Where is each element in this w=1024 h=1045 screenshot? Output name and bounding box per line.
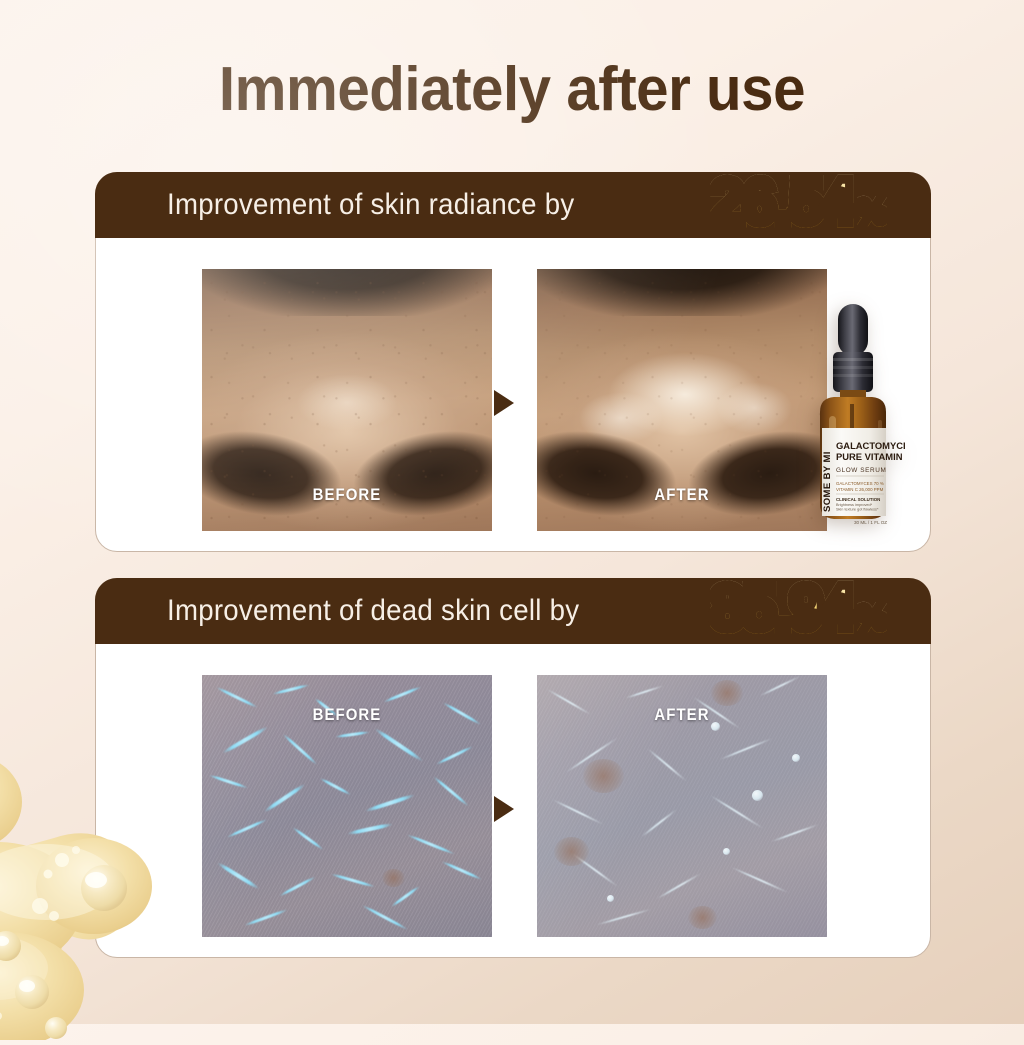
- bottle-subtitle: GLOW SERUM: [836, 467, 886, 474]
- stat-value: 85.94: [710, 577, 853, 640]
- after-label: AFTER: [554, 485, 809, 505]
- bottle-section-label: CLINICAL SOLUTION: [836, 497, 880, 502]
- before-label: BEFORE: [219, 705, 474, 725]
- stat-unit: %: [857, 195, 887, 229]
- product-bottle: SOME BY MI GALACTOMYCES PURE VITAMIN C G…: [800, 300, 905, 535]
- stat-unit: %: [857, 601, 887, 635]
- stat-badge: 85.94 %: [708, 577, 887, 640]
- gel-drop-icon: [0, 710, 216, 1040]
- card-banner: Improvement of dead skin cell by 85.94 %: [95, 578, 931, 644]
- before-label: BEFORE: [219, 485, 474, 505]
- card-banner: Improvement of skin radiance by 26.54 %: [95, 172, 931, 238]
- bottle-claim-line3: Brightness improved*: [836, 503, 873, 507]
- bottle-brand: SOME BY MI: [822, 451, 833, 512]
- bottle-claim-line4: Skin texture got flawless*: [836, 508, 879, 512]
- bottle-name-line1: GALACTOMYCES: [836, 440, 905, 451]
- banner-label: Improvement of skin radiance by: [167, 188, 574, 222]
- after-photo-forehead: AFTER: [537, 269, 827, 531]
- comparison-panels: BEFORE: [96, 675, 932, 950]
- serum-gel-decoration: [0, 710, 216, 1040]
- page-title: Immediately after use: [31, 54, 994, 125]
- bottle-volume: 30 ML / 1 FL OZ: [854, 520, 887, 525]
- bottle-name-line2: PURE VITAMIN C: [836, 451, 905, 462]
- bottle-claim-line2: VITAMIN C 26,000 PPM: [836, 487, 884, 492]
- banner-label: Improvement of dead skin cell by: [167, 594, 579, 628]
- after-label: AFTER: [554, 705, 809, 725]
- arrow-right-icon: [494, 390, 514, 416]
- serum-bottle-icon: SOME BY MI GALACTOMYCES PURE VITAMIN C G…: [800, 300, 905, 535]
- stat-value: 26.54: [710, 171, 853, 234]
- before-photo-microscope: BEFORE: [202, 675, 492, 937]
- after-photo-microscope: AFTER: [537, 675, 827, 937]
- bottle-claim-line1: GALACTOMYCES 70 %: [836, 481, 884, 486]
- stat-badge: 26.54 %: [708, 171, 887, 234]
- before-photo-forehead: BEFORE: [202, 269, 492, 531]
- arrow-right-icon: [494, 796, 514, 822]
- result-card-dead-skin-cell: Improvement of dead skin cell by 85.94 %: [95, 578, 931, 958]
